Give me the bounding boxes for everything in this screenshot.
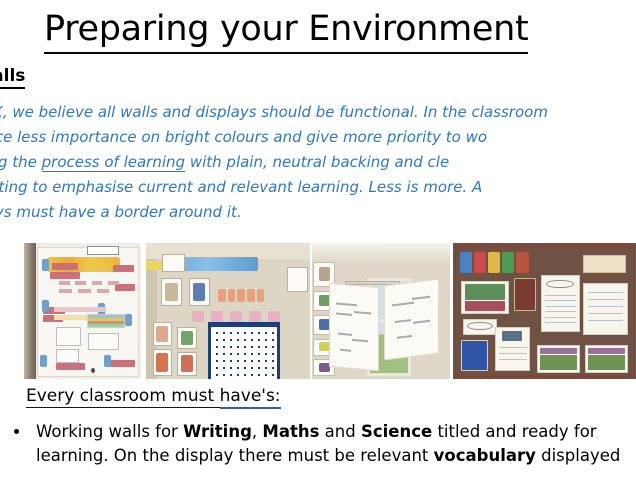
photo-maths-noticeboard — [453, 243, 636, 379]
photo-maths-display-wall — [146, 243, 310, 379]
bullet-list: Working walls for Writing, Maths and Sci… — [8, 420, 636, 468]
pinned-note — [583, 255, 625, 273]
bullet-run: and — [319, 422, 361, 441]
bullet-run: Working walls for — [36, 422, 183, 441]
photo-fractions-working-wall — [24, 243, 141, 379]
body-line-3a: wing the — [0, 153, 42, 171]
photo-strip — [24, 243, 636, 379]
body-line-4: posting to emphasise current and relevan… — [0, 175, 636, 200]
flipchart-sheet-left — [329, 283, 379, 372]
section-heading-text: Walls — [0, 66, 25, 89]
section-heading-walls: Walls — [0, 66, 25, 86]
body-paragraph: XXX, we believe all walls and displays s… — [0, 100, 636, 225]
bullet-bold-term: vocabulary — [434, 446, 536, 465]
wall-sign-label — [87, 246, 119, 255]
photo-flipchart-window — [312, 243, 450, 379]
bullet-run: displayed — [536, 446, 620, 465]
maths-letters — [218, 289, 287, 302]
body-line-3b: with plain, neutral backing and cle — [185, 153, 449, 171]
list-item: Working walls for Writing, Maths and Sci… — [8, 420, 636, 468]
subheading-part-b: have's: — [220, 386, 281, 409]
bullet-bold-term: Writing — [183, 422, 252, 441]
body-line-5: plays must have a border around it. — [0, 200, 636, 225]
body-line-2: place less importance on bright colours … — [0, 125, 636, 150]
subheading-part-a: Every classroom must — [26, 386, 220, 408]
bullet-text: Working walls for Writing, Maths and Sci… — [36, 422, 620, 465]
subheading-classroom-must-haves: Every classroom must have's: — [26, 385, 281, 407]
flipchart-sheet-right — [384, 279, 439, 361]
bullet-run: , — [252, 422, 263, 441]
page-title: Preparing your Environment — [44, 8, 604, 54]
underlined-phrase: process of learning — [42, 153, 185, 172]
bullet-bold-term: Science — [361, 422, 432, 441]
bullet-dot-icon — [14, 429, 19, 434]
slide-canvas: Preparing your Environment Walls XXX, we… — [0, 0, 636, 477]
bullet-bold-term: Maths — [262, 422, 319, 441]
page-title-text: Preparing your Environment — [44, 8, 528, 54]
body-line-1: XXX, we believe all walls and displays s… — [0, 100, 636, 125]
body-line-3: wing the process of learning with plain,… — [0, 150, 636, 175]
hundred-square-grid — [208, 322, 280, 379]
